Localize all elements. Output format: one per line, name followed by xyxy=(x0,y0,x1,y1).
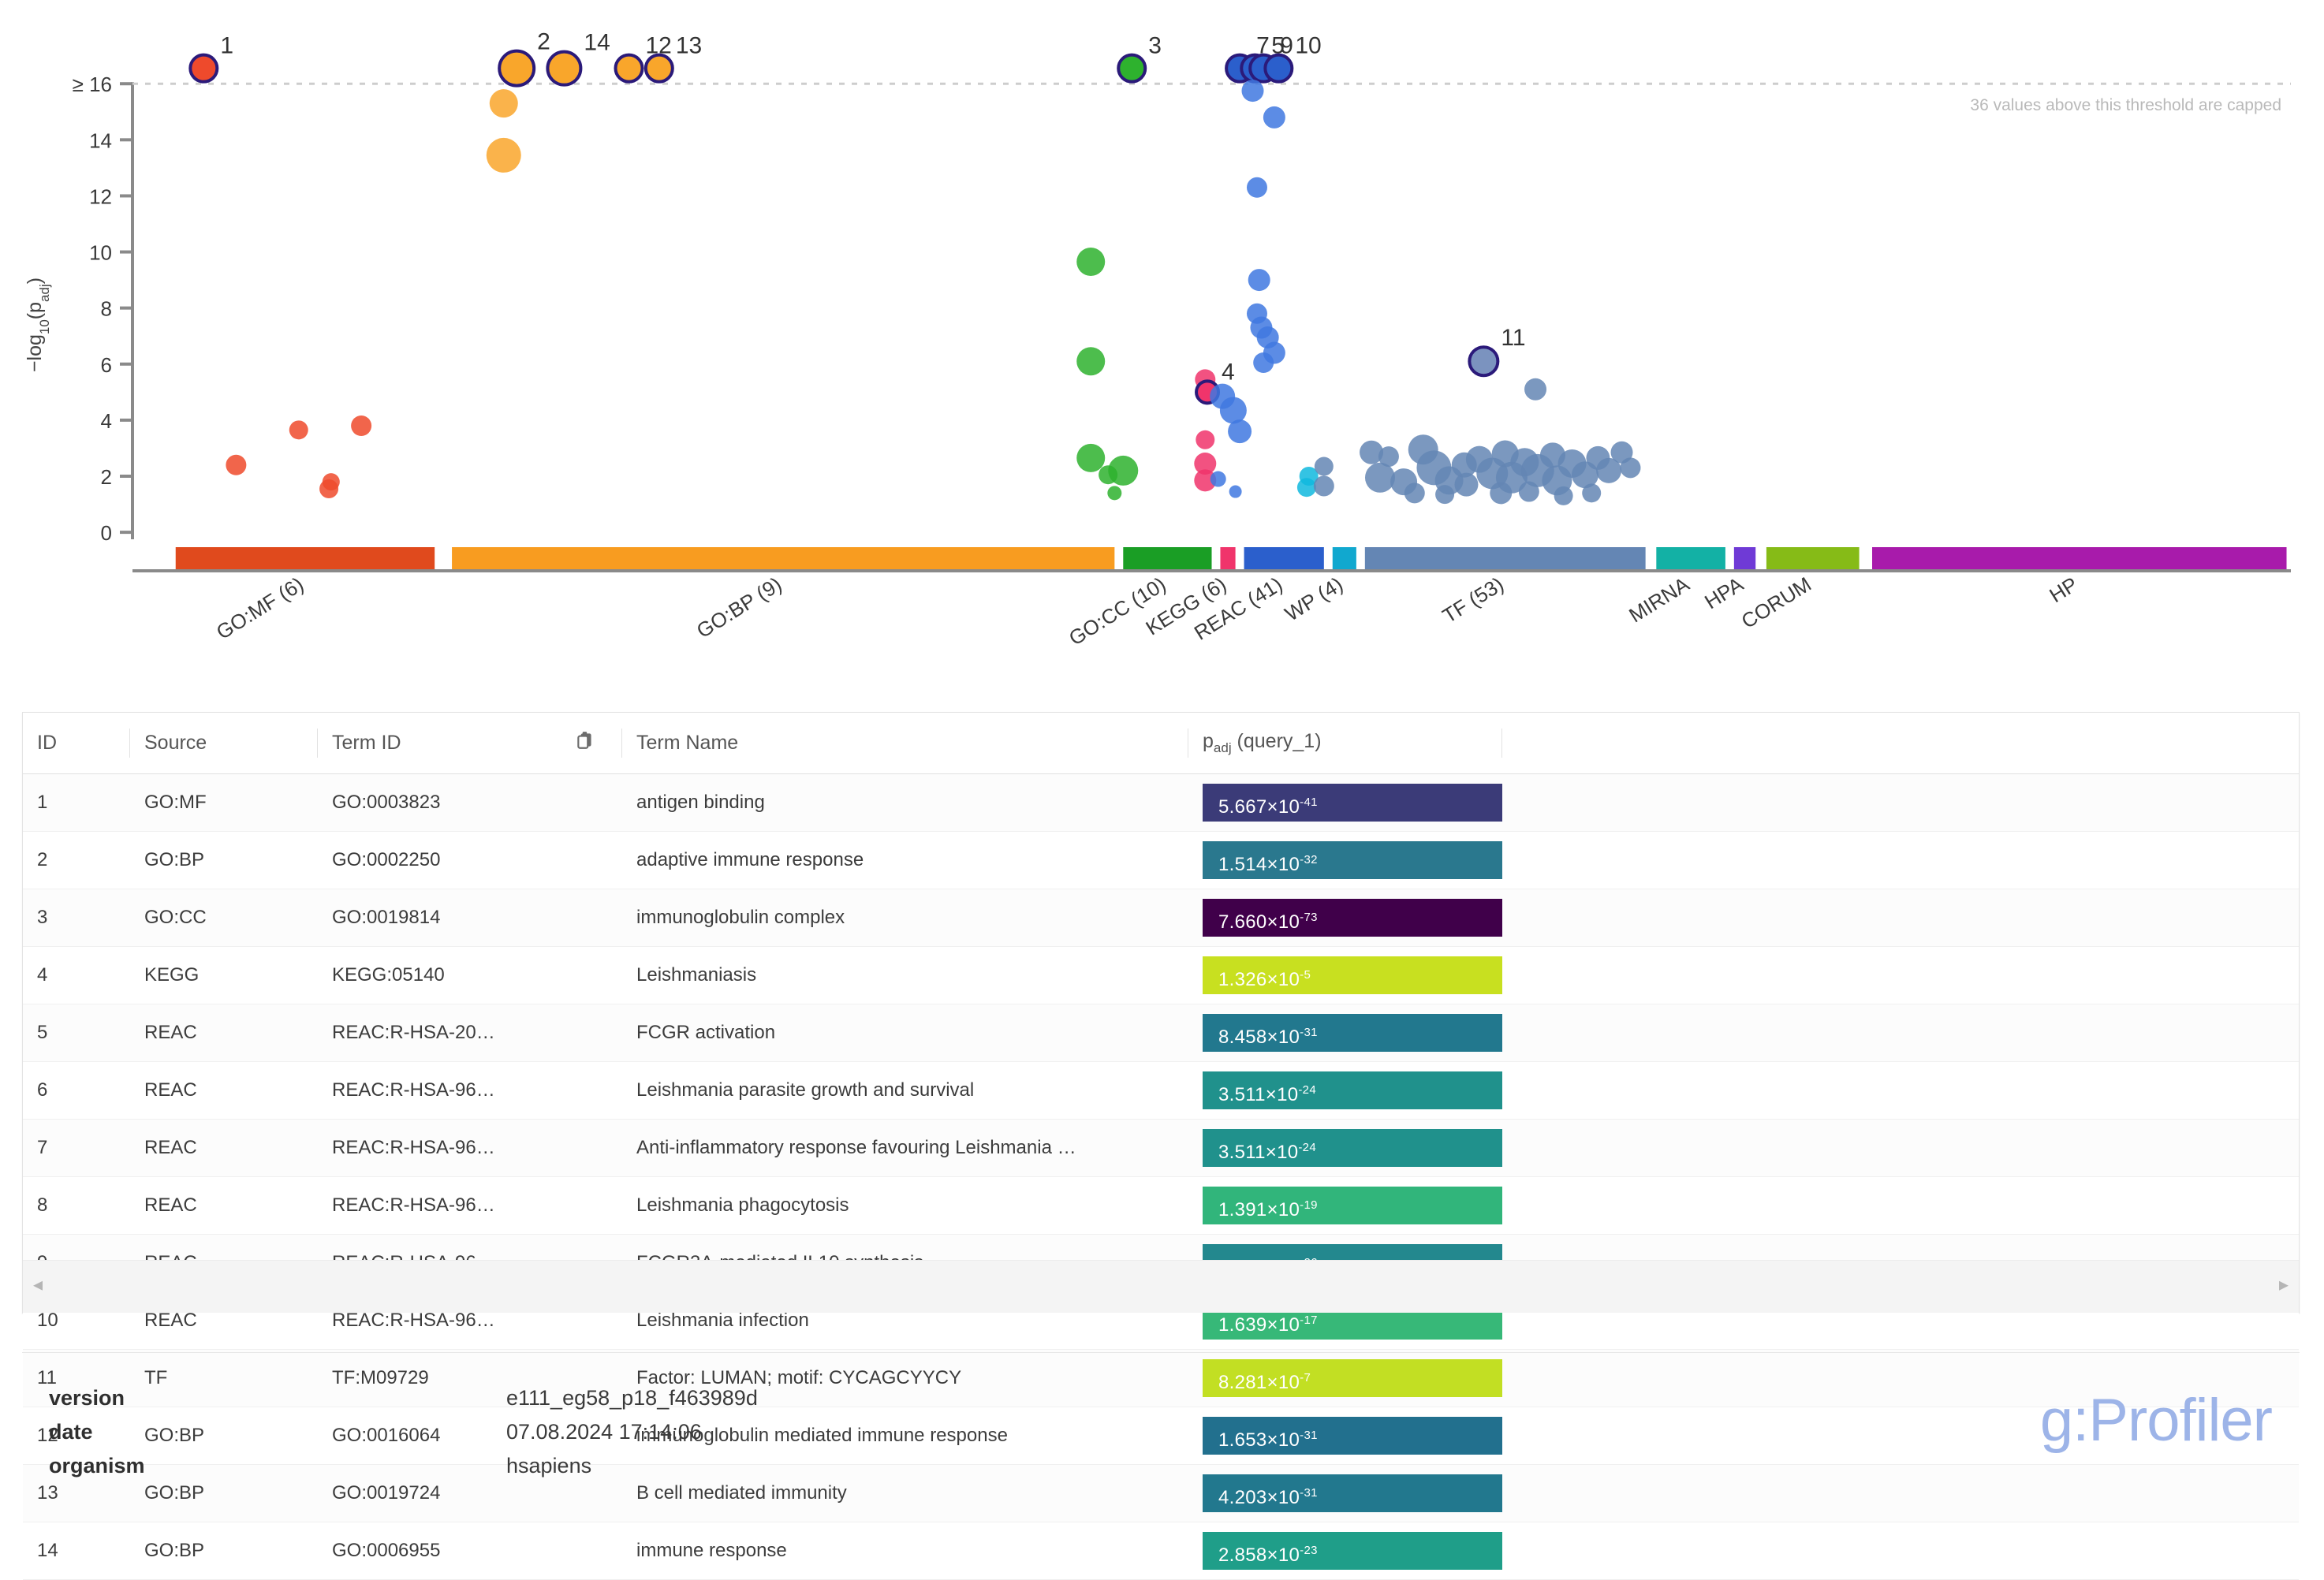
data-point[interactable] xyxy=(1554,486,1573,505)
run-metadata: versione111_eg58_p18_f463989ddate07.08.2… xyxy=(49,1381,758,1483)
metadata-key: date xyxy=(49,1415,506,1449)
point-label-3: 3 xyxy=(1148,33,1162,59)
cell-spacer xyxy=(1502,1004,2299,1062)
padj-value-chip: 4.203×10-31 xyxy=(1203,1474,1502,1512)
y-axis-tick-label: ≥ 16 xyxy=(73,73,112,96)
cell-id: 1 xyxy=(23,774,130,832)
cell-term-id: REAC:R-HSA-20… xyxy=(318,1004,622,1062)
data-point[interactable] xyxy=(1196,430,1214,449)
y-axis-tick-label: 8 xyxy=(101,297,112,321)
data-point[interactable] xyxy=(1263,106,1285,129)
data-point[interactable] xyxy=(226,455,246,475)
data-point[interactable] xyxy=(323,473,340,490)
y-axis-title: −log10(padj) xyxy=(24,278,52,372)
column-header-term-name[interactable]: Term Name xyxy=(622,713,1188,774)
source-label-1: GO:BP (9) xyxy=(692,572,785,643)
cell-padj: 1.391×10-19 xyxy=(1188,1177,1502,1235)
data-point[interactable] xyxy=(1490,482,1512,504)
cell-source: GO:CC xyxy=(130,889,318,947)
source-bar-3[interactable] xyxy=(1220,547,1235,571)
padj-value-chip: 3.511×10-24 xyxy=(1203,1129,1502,1167)
table-header: ID Source Term ID xyxy=(23,713,2299,774)
source-label-6: TF (53) xyxy=(1438,572,1508,628)
highlighted-point-3[interactable] xyxy=(1118,55,1145,82)
cell-padj: 7.660×10-73 xyxy=(1188,889,1502,947)
table-row[interactable]: 4KEGGKEGG:05140Leishmaniasis1.326×10-5 xyxy=(23,947,2299,1004)
data-point[interactable] xyxy=(1210,471,1226,487)
cell-source: REAC xyxy=(130,1004,318,1062)
source-label-0: GO:MF (6) xyxy=(212,572,308,644)
data-point[interactable] xyxy=(1076,248,1105,276)
data-point[interactable] xyxy=(1620,457,1640,478)
metadata-key: version xyxy=(49,1381,506,1415)
data-point[interactable] xyxy=(1220,397,1247,423)
y-axis-tick-label: 6 xyxy=(101,353,112,377)
table-row[interactable]: 5REACREAC:R-HSA-20…FCGR activation8.458×… xyxy=(23,1004,2299,1062)
table-row[interactable]: 2GO:BPGO:0002250adaptive immune response… xyxy=(23,832,2299,889)
point-label-13: 13 xyxy=(676,33,702,59)
table-row[interactable]: 6REACREAC:R-HSA-96…Leishmania parasite g… xyxy=(23,1062,2299,1120)
data-point[interactable] xyxy=(1582,483,1601,502)
cell-term-id: REAC:R-HSA-96… xyxy=(318,1062,622,1120)
source-bar-6[interactable] xyxy=(1365,547,1646,571)
cell-term-id: GO:0006955 xyxy=(318,1522,622,1580)
cell-spacer xyxy=(1502,1522,2299,1580)
cell-term-name: immune response xyxy=(622,1522,1188,1580)
metadata-row: organismhsapiens xyxy=(49,1449,758,1483)
cell-term-id: REAC:R-HSA-96… xyxy=(318,1177,622,1235)
padj-value-chip: 8.458×10-31 xyxy=(1203,1014,1502,1052)
data-point[interactable] xyxy=(1107,486,1121,500)
data-point[interactable] xyxy=(1454,473,1478,497)
column-header-term-id-label: Term ID xyxy=(332,732,401,754)
highlighted-point-1[interactable] xyxy=(190,55,217,82)
data-point[interactable] xyxy=(1229,486,1242,498)
metadata-value: hsapiens xyxy=(506,1449,758,1483)
scroll-left-arrow-icon[interactable]: ◂ xyxy=(28,1275,48,1295)
cell-id: 8 xyxy=(23,1177,130,1235)
data-point[interactable] xyxy=(1365,463,1395,493)
data-point[interactable] xyxy=(1248,269,1270,291)
y-axis-tick-label: 4 xyxy=(101,409,112,433)
cell-padj: 3.511×10-24 xyxy=(1188,1120,1502,1177)
metadata-value: 07.08.2024 17:14:06 xyxy=(506,1415,758,1449)
data-point[interactable] xyxy=(1242,80,1264,102)
cell-id: 14 xyxy=(23,1522,130,1580)
source-label-8: HPA xyxy=(1700,572,1748,613)
data-point[interactable] xyxy=(1435,485,1454,504)
data-point[interactable] xyxy=(1519,482,1539,502)
cell-source: GO:MF xyxy=(130,774,318,832)
cell-term-name: Leishmania parasite growth and survival xyxy=(622,1062,1188,1120)
cell-id: 2 xyxy=(23,832,130,889)
cell-id: 7 xyxy=(23,1120,130,1177)
point-label-1: 1 xyxy=(220,33,233,59)
cell-term-name: FCGR activation xyxy=(622,1004,1188,1062)
padj-value-chip: 1.514×10-32 xyxy=(1203,841,1502,879)
gprofiler-logo: g:Profiler xyxy=(2040,1386,2272,1455)
cell-term-id: GO:0003823 xyxy=(318,774,622,832)
data-point[interactable] xyxy=(1315,457,1334,476)
highlighted-point-12[interactable] xyxy=(616,55,643,82)
column-header-padj[interactable]: padj (query_1) xyxy=(1188,713,1502,774)
table-row[interactable]: 7REACREAC:R-HSA-96…Anti-inflammatory res… xyxy=(23,1120,2299,1177)
source-label-10: HP xyxy=(2045,572,2082,608)
source-bar-2[interactable] xyxy=(1123,547,1211,571)
cell-padj: 8.458×10-31 xyxy=(1188,1004,1502,1062)
data-point[interactable] xyxy=(1404,483,1425,503)
footer-divider xyxy=(22,1352,2300,1353)
point-label-14: 14 xyxy=(584,30,610,56)
data-point[interactable] xyxy=(1253,352,1274,373)
cell-padj: 1.326×10-5 xyxy=(1188,947,1502,1004)
padj-value-chip: 7.660×10-73 xyxy=(1203,899,1502,937)
cell-source: REAC xyxy=(130,1120,318,1177)
column-header-term-id[interactable]: Term ID xyxy=(318,713,561,774)
cell-term-name: Leishmania phagocytosis xyxy=(622,1177,1188,1235)
column-header-spacer xyxy=(1502,713,2299,774)
cell-term-name: Anti-inflammatory response favouring Lei… xyxy=(622,1120,1188,1177)
highlighted-point-10[interactable] xyxy=(1265,55,1292,82)
manhattan-plot: ≥ 1614121086420−log10(padj)36 values abo… xyxy=(0,0,2324,678)
padj-value-chip: 1.653×10-31 xyxy=(1203,1417,1502,1455)
source-bar-0[interactable] xyxy=(176,547,435,571)
cell-spacer xyxy=(1502,1177,2299,1235)
data-point[interactable] xyxy=(1076,347,1105,375)
cell-source: REAC xyxy=(130,1062,318,1120)
source-bar-5[interactable] xyxy=(1333,547,1356,571)
data-point[interactable] xyxy=(289,420,308,439)
source-bar-8[interactable] xyxy=(1734,547,1755,571)
data-point[interactable] xyxy=(1076,444,1105,472)
cell-term-id: KEGG:05140 xyxy=(318,947,622,1004)
y-axis-title-text: −log10(padj) xyxy=(24,278,52,372)
cell-term-name: immunoglobulin complex xyxy=(622,889,1188,947)
padj-value-chip: 1.326×10-5 xyxy=(1203,956,1502,994)
cell-spacer xyxy=(1502,832,2299,889)
source-label-9: CORUM xyxy=(1737,572,1815,633)
cell-spacer xyxy=(1502,1062,2299,1120)
column-header-term-name-label: Term Name xyxy=(636,732,738,754)
data-point[interactable] xyxy=(1524,378,1546,401)
padj-value-chip: 3.511×10-24 xyxy=(1203,1071,1502,1109)
highlighted-point-14[interactable] xyxy=(547,52,580,85)
table-row[interactable]: 3GO:CCGO:0019814immunoglobulin complex7.… xyxy=(23,889,2299,947)
data-point[interactable] xyxy=(1228,419,1252,443)
data-point[interactable] xyxy=(351,415,371,436)
cell-spacer xyxy=(1502,774,2299,832)
y-axis-tick-label: 2 xyxy=(101,465,112,489)
data-point[interactable] xyxy=(490,89,518,117)
cell-source: REAC xyxy=(130,1177,318,1235)
table-row[interactable]: 1GO:MFGO:0003823antigen binding5.667×10-… xyxy=(23,774,2299,832)
cell-spacer xyxy=(1502,947,2299,1004)
y-axis-tick-label: 0 xyxy=(101,521,112,545)
highlighted-point-13[interactable] xyxy=(646,55,673,82)
source-bar-4[interactable] xyxy=(1244,547,1324,571)
table-header-row: ID Source Term ID xyxy=(23,713,2299,774)
column-header-id-label: ID xyxy=(37,732,57,754)
y-axis-tick-label: 10 xyxy=(89,241,112,265)
copy-term-ids-button[interactable] xyxy=(561,713,622,774)
metadata-key: organism xyxy=(49,1449,506,1483)
cell-term-id: GO:0002250 xyxy=(318,832,622,889)
cell-term-name: antigen binding xyxy=(622,774,1188,832)
column-header-id[interactable]: ID xyxy=(23,713,130,774)
y-axis-tick-label: 14 xyxy=(89,129,112,152)
cell-id: 3 xyxy=(23,889,130,947)
cell-id: 6 xyxy=(23,1062,130,1120)
cell-term-name: Leishmaniasis xyxy=(622,947,1188,1004)
point-label-11: 11 xyxy=(1501,325,1525,351)
metadata-value: e111_eg58_p18_f463989d xyxy=(506,1381,758,1415)
source-bar-9[interactable] xyxy=(1766,547,1860,571)
plot-svg: ≥ 1614121086420−log10(padj)36 values abo… xyxy=(0,0,2324,678)
cell-padj: 1.514×10-32 xyxy=(1188,832,1502,889)
data-point[interactable] xyxy=(1247,177,1267,198)
scroll-right-arrow-icon[interactable]: ▸ xyxy=(2274,1275,2294,1295)
cell-padj: 3.511×10-24 xyxy=(1188,1062,1502,1120)
point-label-10: 10 xyxy=(1295,33,1321,59)
metadata-row: versione111_eg58_p18_f463989d xyxy=(49,1381,758,1415)
column-header-source-label: Source xyxy=(144,732,207,754)
cell-padj: 8.281×10-7 xyxy=(1188,1350,1502,1407)
padj-value-chip: 5.667×10-41 xyxy=(1203,784,1502,822)
cell-id: 5 xyxy=(23,1004,130,1062)
source-label-7: MIRNA xyxy=(1625,572,1694,627)
y-axis-tick-label: 12 xyxy=(89,184,112,208)
cell-padj: 1.653×10-31 xyxy=(1188,1407,1502,1465)
data-point[interactable] xyxy=(1108,456,1138,486)
table-horizontal-scrollbar[interactable]: ◂ ▸ xyxy=(23,1260,2299,1313)
column-header-padj-label: padj (query_1) xyxy=(1203,730,1322,752)
source-label-5: WP (4) xyxy=(1281,572,1347,626)
data-point[interactable] xyxy=(1297,478,1316,497)
cell-source: KEGG xyxy=(130,947,318,1004)
run-metadata-table: versione111_eg58_p18_f463989ddate07.08.2… xyxy=(49,1381,758,1483)
cell-source: GO:BP xyxy=(130,1522,318,1580)
cell-term-name: adaptive immune response xyxy=(622,832,1188,889)
table-row[interactable]: 8REACREAC:R-HSA-96…Leishmania phagocytos… xyxy=(23,1177,2299,1235)
cell-source: GO:BP xyxy=(130,832,318,889)
padj-value-chip: 2.858×10-23 xyxy=(1203,1532,1502,1570)
cell-id: 4 xyxy=(23,947,130,1004)
results-table-panel: ID Source Term ID xyxy=(22,712,2300,1314)
threshold-note: 36 values above this threshold are cappe… xyxy=(1970,96,2281,114)
source-bar-7[interactable] xyxy=(1656,547,1725,571)
cell-spacer xyxy=(1502,1120,2299,1177)
copy-icon xyxy=(575,730,595,756)
column-header-source[interactable]: Source xyxy=(130,713,318,774)
cell-spacer xyxy=(1502,889,2299,947)
source-bar-1[interactable] xyxy=(452,547,1114,571)
data-point[interactable] xyxy=(1314,475,1334,496)
padj-value-chip: 8.281×10-7 xyxy=(1203,1359,1502,1397)
cell-term-id: REAC:R-HSA-96… xyxy=(318,1120,622,1177)
padj-value-chip: 1.391×10-19 xyxy=(1203,1187,1502,1224)
cell-term-id: GO:0019814 xyxy=(318,889,622,947)
point-label-4: 4 xyxy=(1222,359,1235,385)
cell-padj: 2.858×10-23 xyxy=(1188,1522,1502,1580)
highlighted-point-2[interactable] xyxy=(499,51,534,86)
cell-spacer xyxy=(1502,1465,2299,1522)
metadata-row: date07.08.2024 17:14:06 xyxy=(49,1415,758,1449)
cell-padj: 4.203×10-31 xyxy=(1188,1465,1502,1522)
source-bar-10[interactable] xyxy=(1872,547,2287,571)
point-label-2: 2 xyxy=(537,29,550,55)
data-point[interactable] xyxy=(487,138,521,173)
highlighted-point-11[interactable] xyxy=(1469,347,1498,375)
table-row[interactable]: 14GO:BPGO:0006955immune response2.858×10… xyxy=(23,1522,2299,1580)
cell-padj: 5.667×10-41 xyxy=(1188,774,1502,832)
